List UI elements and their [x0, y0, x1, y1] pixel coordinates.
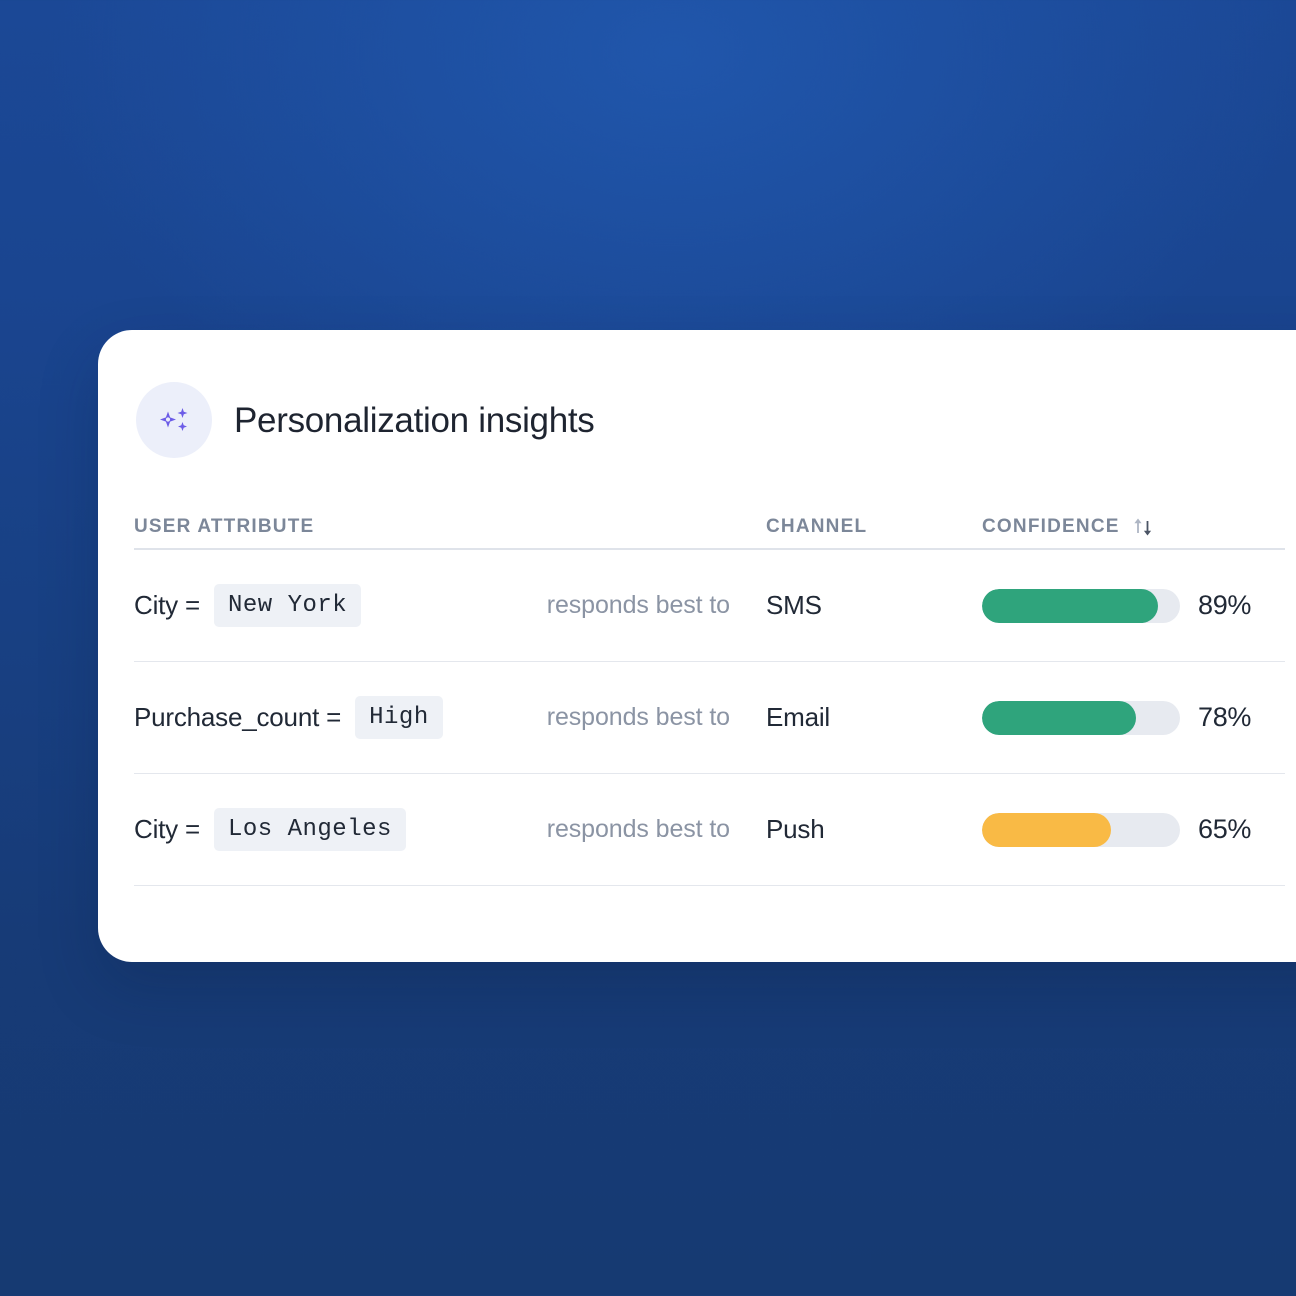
attribute-value-chip: High: [355, 696, 443, 739]
column-header-user-attribute: USER ATTRIBUTE: [134, 516, 766, 538]
sparkles-icon: [136, 382, 212, 458]
column-header-confidence-label: CONFIDENCE: [982, 516, 1120, 538]
column-header-confidence[interactable]: CONFIDENCE: [982, 515, 1285, 539]
table-row[interactable]: City = Los Angeles responds best to Push…: [134, 774, 1285, 886]
confidence-bar-fill: [982, 589, 1158, 623]
cell-channel: Email: [766, 702, 982, 733]
confidence-bar-track: [982, 813, 1180, 847]
page-title: Personalization insights: [234, 403, 595, 438]
attribute-value-chip: New York: [214, 584, 361, 627]
table-header-row: USER ATTRIBUTE CHANNEL CONFIDENCE: [134, 506, 1285, 550]
relation-phrase: responds best to: [547, 815, 766, 844]
cell-user-attribute: Purchase_count = High responds best to: [134, 696, 766, 739]
relation-phrase: responds best to: [547, 703, 766, 732]
attribute-key: Purchase_count =: [134, 702, 341, 733]
card-header: Personalization insights: [98, 330, 1296, 458]
table-row[interactable]: City = New York responds best to SMS 89%: [134, 550, 1285, 662]
cell-user-attribute: City = New York responds best to: [134, 584, 766, 627]
confidence-value-label: 89%: [1198, 590, 1251, 621]
confidence-bar-fill: [982, 701, 1136, 735]
confidence-bar-track: [982, 589, 1180, 623]
column-header-channel: CHANNEL: [766, 516, 982, 538]
cell-confidence: 65%: [982, 813, 1285, 847]
cell-confidence: 78%: [982, 701, 1285, 735]
confidence-bar-fill: [982, 813, 1111, 847]
personalization-insights-card: Personalization insights USER ATTRIBUTE …: [98, 330, 1296, 962]
cell-channel: Push: [766, 814, 982, 845]
cell-user-attribute: City = Los Angeles responds best to: [134, 808, 766, 851]
cell-confidence: 89%: [982, 589, 1285, 623]
confidence-value-label: 78%: [1198, 702, 1251, 733]
cell-channel: SMS: [766, 590, 982, 621]
sort-arrows-icon[interactable]: [1132, 515, 1154, 539]
confidence-bar-track: [982, 701, 1180, 735]
relation-phrase: responds best to: [547, 591, 766, 620]
table-row[interactable]: Purchase_count = High responds best to E…: [134, 662, 1285, 774]
attribute-key: City =: [134, 814, 200, 845]
insights-table: USER ATTRIBUTE CHANNEL CONFIDENCE City =…: [98, 506, 1296, 886]
attribute-value-chip: Los Angeles: [214, 808, 406, 851]
attribute-key: City =: [134, 590, 200, 621]
confidence-value-label: 65%: [1198, 814, 1251, 845]
